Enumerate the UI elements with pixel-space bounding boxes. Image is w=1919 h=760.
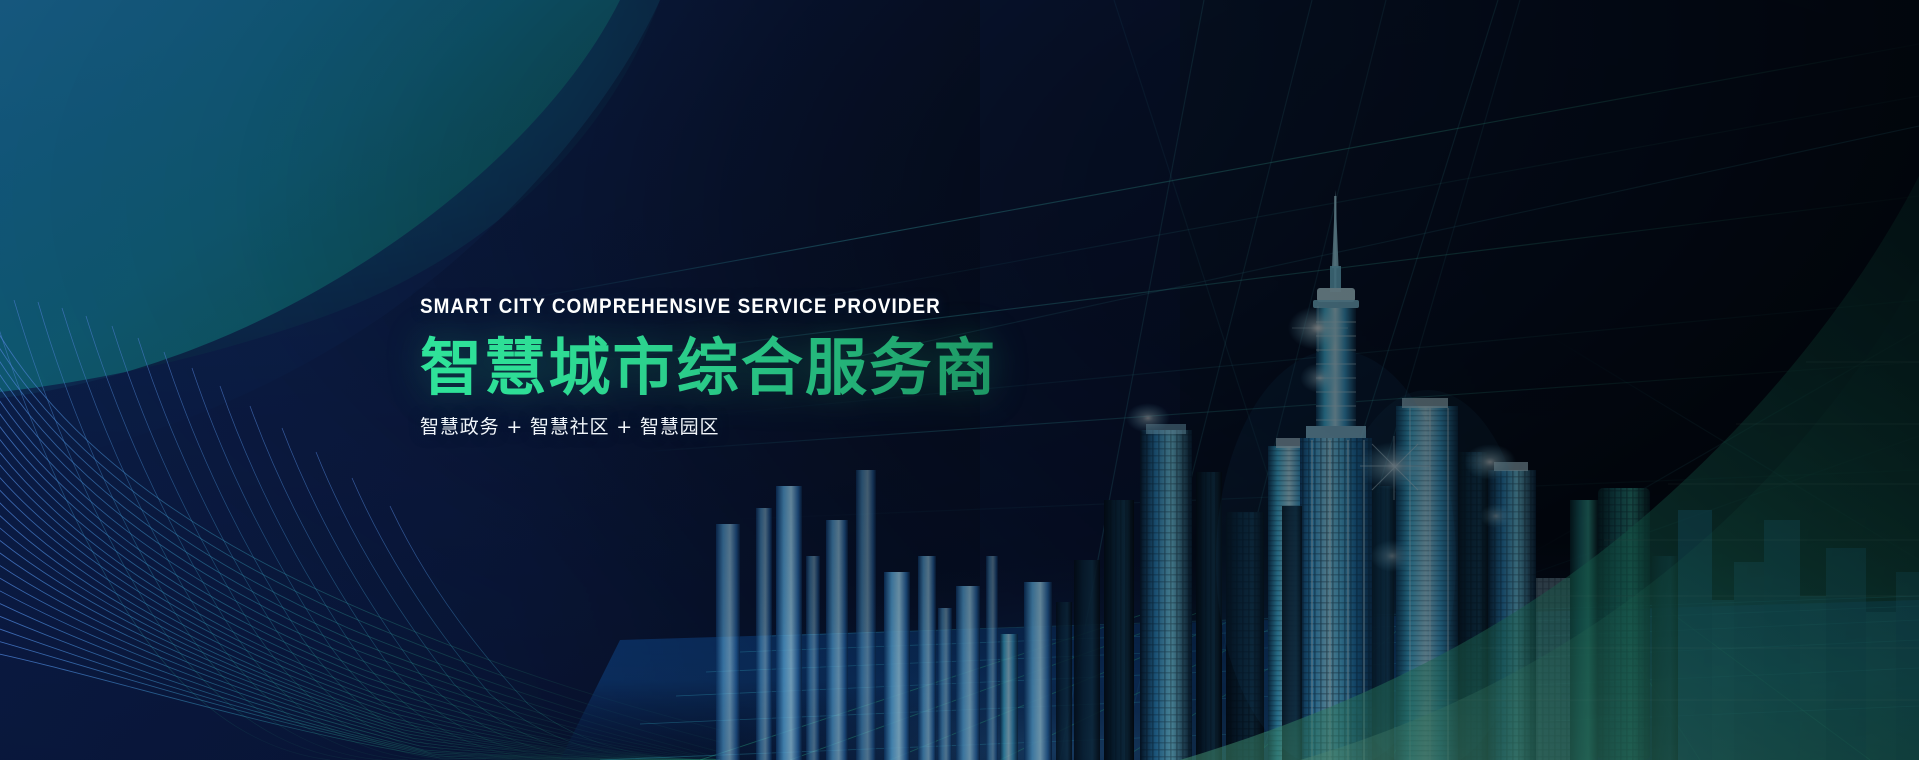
hero-subline: 智慧政务 + 智慧社区 + 智慧园区: [420, 418, 1180, 437]
hero-copy: SMART CITY COMPREHENSIVE SERVICE PROVIDE…: [420, 296, 1180, 437]
hero-banner: SMART CITY COMPREHENSIVE SERVICE PROVIDE…: [0, 0, 1919, 760]
hero-headline: 智慧城市综合服务商: [420, 335, 1180, 401]
hero-eyebrow: SMART CITY COMPREHENSIVE SERVICE PROVIDE…: [420, 296, 1104, 317]
